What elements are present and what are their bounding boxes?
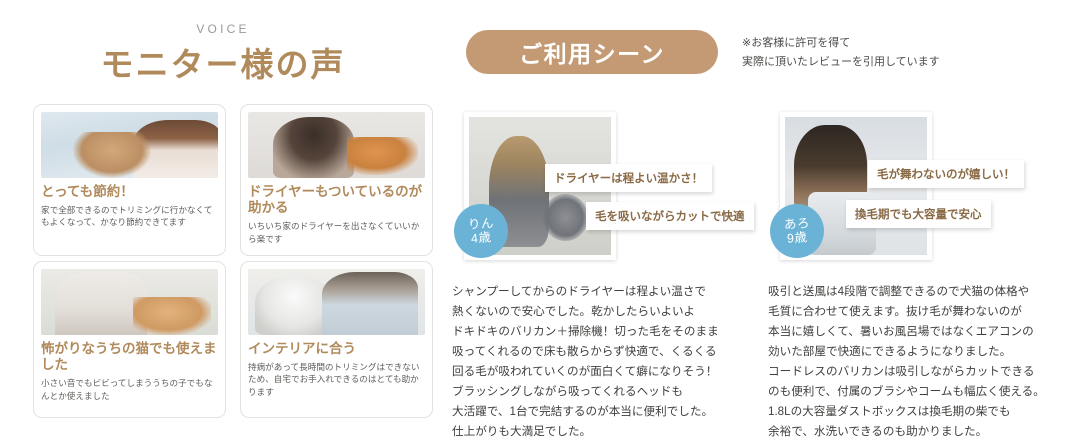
scene-callout-bubble: ドライヤーは程よい温かさ！ [545, 164, 712, 192]
scene-callout-bubble: 毛を吸いながらカットで快適 [586, 202, 754, 230]
review-line: 吸ってくれるので床も散らからず快適で、くるくる [452, 342, 758, 362]
usage-scene-section: ご利用シーン ※お客様に許可を得て 実際に頂いたレビューを引用しています りん … [446, 0, 1080, 442]
voice-section: VOICE モニター様の声 とっても節約！ 家で全部できるのでトリミングに行かな… [0, 0, 446, 442]
testimonial-photo [248, 112, 425, 178]
testimonial-title: ドライヤーもついているのが助かる [248, 184, 425, 216]
testimonial-photo [248, 269, 425, 335]
pet-age: 9歳 [786, 230, 807, 245]
review-line: 余裕で、水洗いできるのも助かりました。 [768, 422, 1074, 442]
testimonial-body: 家で全部できるのでトリミングに行かなくてもよくなって、かなり節約できてます [41, 204, 218, 228]
scene-item: あろ 9歳 毛が舞わないのが嬉しい！ 換毛期でも大容量で安心 吸引と送風は4段階… [768, 108, 1074, 442]
review-line: ブラッシングしながら吸ってくれるヘッドも [452, 382, 758, 402]
pet-name-badge: あろ 9歳 [770, 204, 824, 258]
review-line: 回る毛が吸われていくのが面白くて癖になりそう！ [452, 362, 758, 382]
testimonial-photo [41, 112, 218, 178]
scene-callout-bubble: 毛が舞わないのが嬉しい！ [868, 160, 1024, 188]
testimonial-card-grid: とっても節約！ 家で全部できるのでトリミングに行かなくてもよくなって、かなり節約… [33, 104, 433, 418]
review-line: シャンプーしてからのドライヤーは程よい温さで [452, 282, 758, 302]
scene-review-text: シャンプーしてからのドライヤーは程よい温さで 熱くないので安心でした。乾かしたら… [452, 282, 758, 442]
scene-figure: あろ 9歳 毛が舞わないのが嬉しい！ 換毛期でも大容量で安心 [768, 108, 1074, 268]
testimonial-card[interactable]: ドライヤーもついているのが助かる いちいち家のドライヤーを出さなくていいから楽で… [240, 104, 433, 256]
review-line: 大活躍で、1台で完結するのが本当に便利でした。 [452, 402, 758, 422]
testimonial-card[interactable]: インテリアに合う 持病があって長時間のトリミングはできないため、自宅でお手入れで… [240, 261, 433, 418]
page-root: VOICE モニター様の声 とっても節約！ 家で全部できるのでトリミングに行かな… [0, 0, 1080, 442]
scene-grid: りん 4歳 ドライヤーは程よい温かさ！ 毛を吸いながらカットで快適 シャンプーし… [452, 108, 1080, 442]
testimonial-title: とっても節約！ [41, 184, 218, 200]
review-line: 効いた部屋で快適にできるようになりました。 [768, 342, 1074, 362]
voice-eyebrow: VOICE [0, 22, 446, 36]
scene-review-text: 吸引と送風は4段階で調整できるので犬猫の体格や 毛質に合わせて使えます。抜け毛が… [768, 282, 1074, 442]
scene-figure: りん 4歳 ドライヤーは程よい温かさ！ 毛を吸いながらカットで快適 [452, 108, 758, 268]
review-line: コードレスのバリカンは吸引しながらカットできる [768, 362, 1074, 382]
disclaimer-line: 実際に頂いたレビューを引用しています [742, 53, 1072, 72]
testimonial-card[interactable]: 怖がりなうちの猫でも使えました 小さい音でもビビってしまううちの子でもなんとか使… [33, 261, 226, 418]
testimonial-body: 小さい音でもビビってしまううちの子でもなんとか使えました [41, 377, 218, 401]
disclaimer-line: ※お客様に許可を得て [742, 34, 1072, 53]
testimonial-title: 怖がりなうちの猫でも使えました [41, 341, 218, 373]
review-line: のも便利で、付属のブラシやコームも幅広く使える。 [768, 382, 1074, 402]
testimonial-card[interactable]: とっても節約！ 家で全部できるのでトリミングに行かなくてもよくなって、かなり節約… [33, 104, 226, 256]
testimonial-body: いちいち家のドライヤーを出さなくていいから楽です [248, 220, 425, 244]
scene-item: りん 4歳 ドライヤーは程よい温かさ！ 毛を吸いながらカットで快適 シャンプーし… [452, 108, 758, 442]
review-line: 毛質に合わせて使えます。抜け毛が舞わないのが [768, 302, 1074, 322]
pet-name-badge: りん 4歳 [454, 204, 508, 258]
review-line: 熱くないので安心でした。乾かしたらいよいよ [452, 302, 758, 322]
pet-age: 4歳 [470, 230, 491, 245]
review-line: 1.8Lの大容量ダストボックスは換毛期の柴でも [768, 402, 1074, 422]
testimonial-title: インテリアに合う [248, 341, 425, 357]
review-line: 吸引と送風は4段階で調整できるので犬猫の体格や [768, 282, 1074, 302]
voice-section-title: モニター様の声 [0, 38, 446, 86]
review-line: ドキドキのバリカン＋掃除機！切った毛をそのまま [452, 322, 758, 342]
review-line: 本当に嬉しくて、暑いお風呂場ではなくエアコンの [768, 322, 1074, 342]
testimonial-photo [41, 269, 218, 335]
usage-scene-pill-title: ご利用シーン [466, 30, 718, 74]
testimonial-body: 持病があって長時間のトリミングはできないため、自宅でお手入れできるのはとても助か… [248, 361, 425, 398]
review-disclaimer: ※お客様に許可を得て 実際に頂いたレビューを引用しています [742, 34, 1072, 73]
review-line: 仕上がりも大満足でした。 [452, 422, 758, 442]
scene-callout-bubble: 換毛期でも大容量で安心 [846, 200, 991, 228]
